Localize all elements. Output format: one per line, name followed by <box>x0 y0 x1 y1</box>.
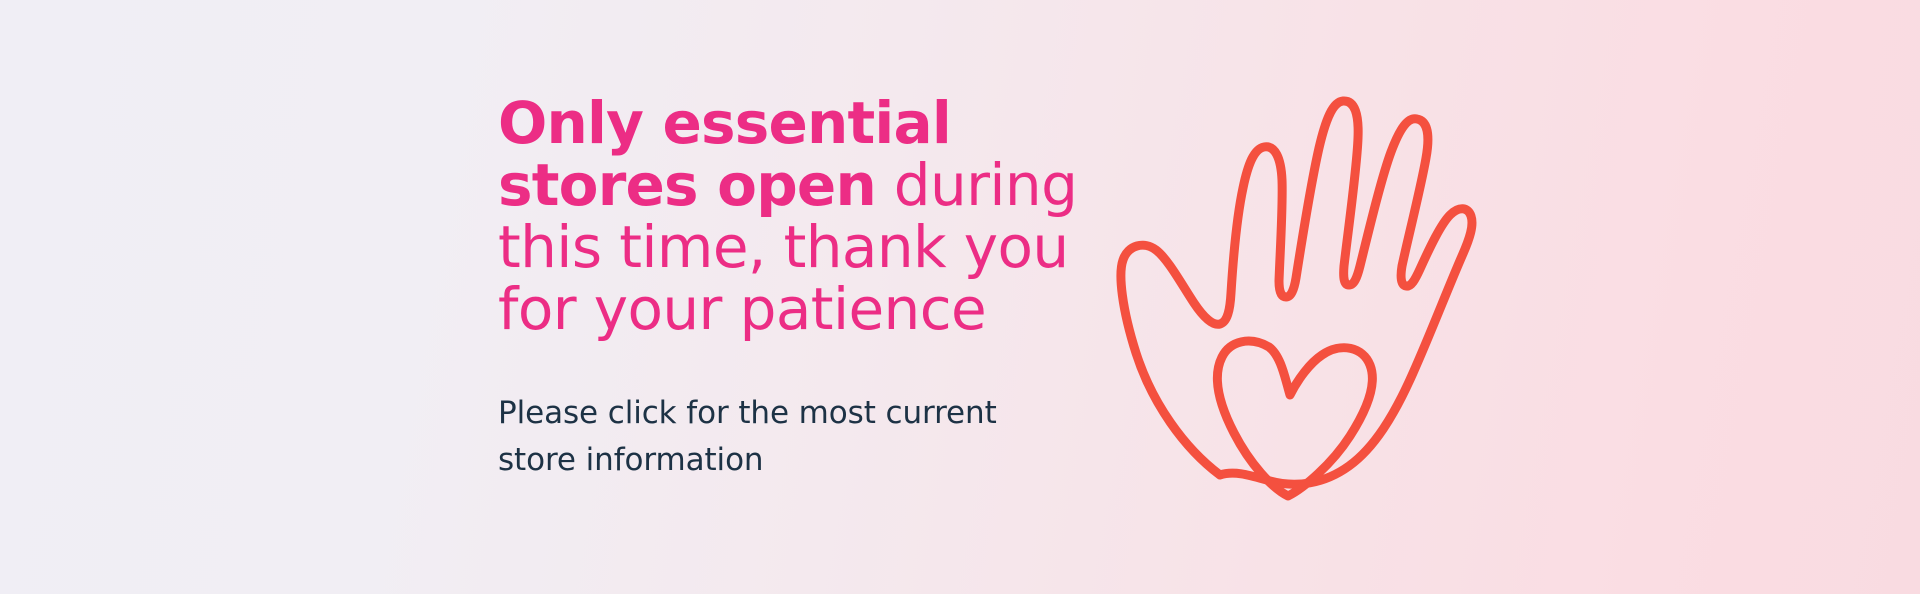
banner-copy-block: Only essential stores open during this t… <box>498 92 1098 340</box>
essential-stores-notice-banner[interactable]: Only essential stores open during this t… <box>0 0 1920 594</box>
banner-headline: Only essential stores open during this t… <box>498 92 1098 340</box>
hand-outline-path <box>1121 101 1472 484</box>
banner-subcopy: Please click for the most current store … <box>498 390 1078 484</box>
hand-with-heart-icon <box>1100 88 1480 488</box>
